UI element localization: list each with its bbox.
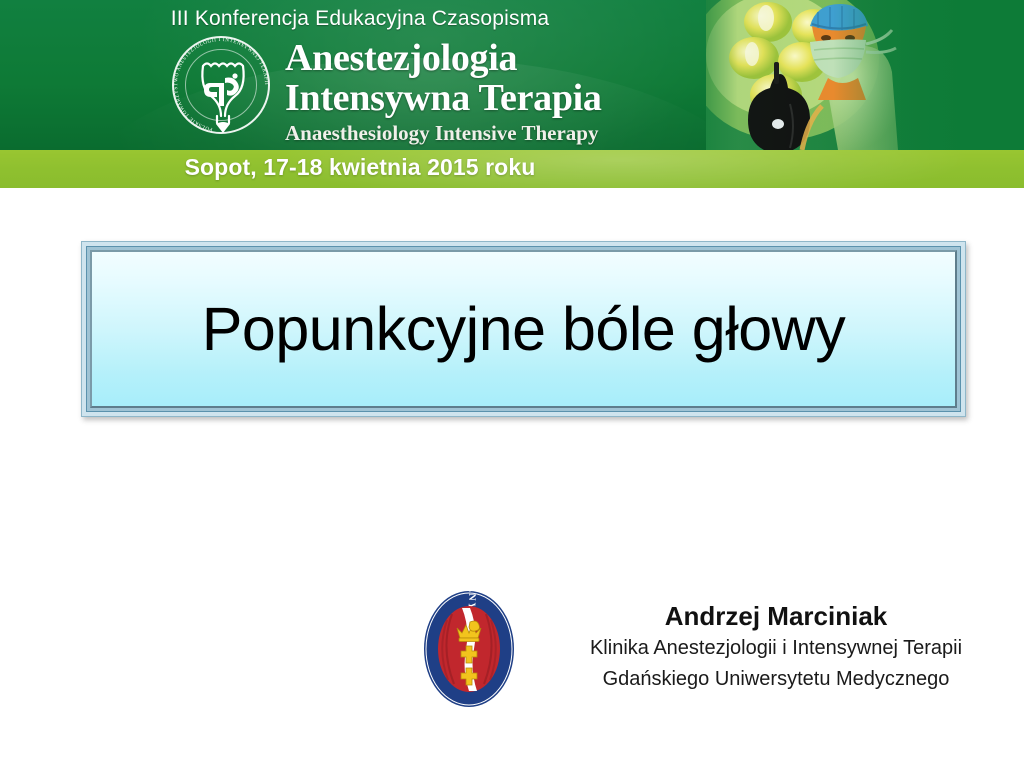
conference-header-banner: POLSKIE TOWARZYSTWO ANESTEZJOLOGII I INT… (0, 0, 1024, 150)
title-box-bevel: Popunkcyjne bóle głowy (86, 246, 961, 412)
author-name: Andrzej Marciniak (560, 600, 992, 633)
gumed-logo-artwork: GDAŃSKI UNIWERSYTET MEDYCZNY (418, 588, 520, 710)
title-slide: POLSKIE TOWARZYSTWO ANESTEZJOLOGII I INT… (0, 0, 1024, 768)
emblem-artwork: POLSKIE TOWARZYSTWO ANESTEZJOLOGII I INT… (172, 36, 274, 138)
journal-title-line2: Intensywna Terapia (285, 78, 725, 118)
slide-title: Popunkcyjne bóle głowy (202, 297, 845, 361)
affiliation-line-2: Gdańskiego Uniwersytetu Medycznego (560, 664, 992, 695)
journal-subtitle: Anaesthesiology Intensive Therapy (285, 121, 725, 145)
journal-masthead: Anestezjologia Intensywna Terapia Anaest… (285, 38, 725, 145)
surgeon-operating-room-photo (706, 0, 1024, 150)
conference-line: III Konferencja Edukacyjna Czasopisma (0, 7, 720, 31)
society-emblem-icon: POLSKIE TOWARZYSTWO ANESTEZJOLOGII I INT… (172, 36, 274, 138)
journal-title-line1: Anestezjologia (285, 38, 725, 78)
author-block: Andrzej Marciniak Klinika Anestezjologii… (560, 600, 992, 695)
title-box: Popunkcyjne bóle głowy (81, 241, 966, 417)
date-band: Sopot, 17-18 kwietnia 2015 roku (0, 150, 1024, 188)
gdansk-medical-university-logo-icon: GDAŃSKI UNIWERSYTET MEDYCZNY (418, 588, 520, 710)
photo-fade-overlay (706, 0, 1024, 150)
affiliation-line-1: Klinika Anestezjologii i Intensywnej Ter… (560, 633, 992, 664)
title-box-fill: Popunkcyjne bóle głowy (90, 250, 957, 408)
conference-date-text: Sopot, 17-18 kwietnia 2015 roku (0, 154, 720, 181)
